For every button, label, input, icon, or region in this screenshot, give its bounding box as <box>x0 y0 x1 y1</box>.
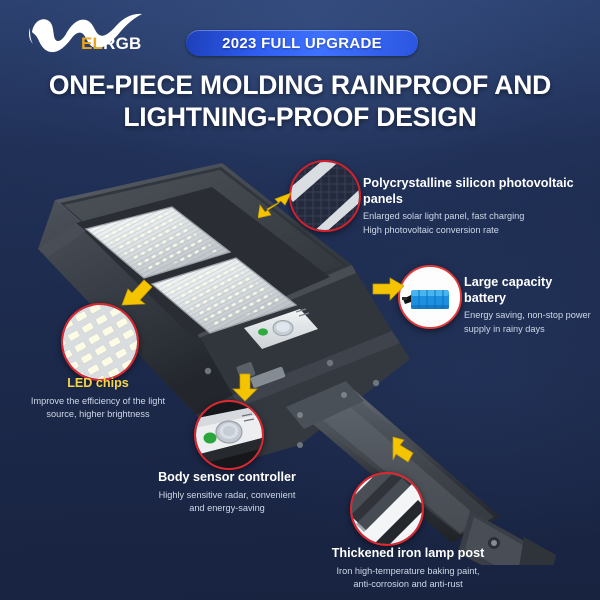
promo-banner: ELRGB 2023 FULL UPGRADE ONE-PIECE MOLDIN… <box>0 0 600 600</box>
arrow-lamp-post-icon <box>385 436 419 466</box>
upgrade-badge-label: 2023 FULL UPGRADE <box>222 35 382 52</box>
battery-pack-icon <box>400 267 460 327</box>
arrow-sensor-icon <box>228 372 262 402</box>
callout-sub1-sensor: Highly sensitive radar, convenient <box>132 489 322 502</box>
callout-sub2-solar-panel: High photovoltaic conversion rate <box>363 224 595 237</box>
logo-text-rgb: RGB <box>103 34 141 53</box>
callout-sub1-lamp-post: Iron high-temperature baking paint, <box>297 565 519 578</box>
callout-solar-panel: Polycrystalline silicon photovoltaic pan… <box>363 176 595 237</box>
callout-title-solar-panel: Polycrystalline silicon photovoltaic pan… <box>363 176 595 207</box>
callout-title-battery: Large capacity battery <box>464 275 596 306</box>
page-title: ONE-PIECE MOLDING RAINPROOF AND LIGHTNIN… <box>0 70 600 134</box>
led-chip-array-icon <box>63 305 137 379</box>
upgrade-badge: 2023 FULL UPGRADE <box>186 30 418 56</box>
iron-pole-closeup-icon <box>352 474 422 544</box>
detail-circle-sensor <box>194 400 264 470</box>
headline-line-1: ONE-PIECE MOLDING RAINPROOF AND <box>0 70 600 102</box>
headline-line-2: LIGHTNING-PROOF DESIGN <box>0 102 600 134</box>
logo-text-el: EL <box>81 34 103 53</box>
callout-sub1-led-chips: Improve the efficiency of the light <box>8 395 188 408</box>
callout-title-sensor: Body sensor controller <box>132 470 322 486</box>
callout-sub2-lamp-post: anti-corrosion and anti-rust <box>297 578 519 591</box>
pir-sensor-module-icon <box>196 402 262 468</box>
callout-sub2-battery: supply in rainy days <box>464 323 596 336</box>
callout-lamp-post: Thickened iron lamp post Iron high-tempe… <box>297 546 519 591</box>
callout-battery: Large capacity battery Energy saving, no… <box>464 275 596 336</box>
detail-circle-led-chips <box>61 303 139 381</box>
detail-circle-solar-panel <box>289 160 361 232</box>
arrow-led-chips-icon <box>120 278 154 308</box>
callout-title-led-chips: LED chips <box>8 376 188 392</box>
arrow-solar-panel-icon <box>258 190 292 220</box>
callout-sub1-solar-panel: Enlarged solar light panel, fast chargin… <box>363 210 595 223</box>
arrow-battery-icon <box>371 274 405 304</box>
brand-logo: ELRGB <box>24 8 164 58</box>
callout-title-lamp-post: Thickened iron lamp post <box>297 546 519 562</box>
callout-sub2-led-chips: source, higher brightness <box>8 408 188 421</box>
callout-sub1-battery: Energy saving, non-stop power <box>464 309 596 322</box>
callout-led-chips: LED chips Improve the efficiency of the … <box>8 376 188 421</box>
callout-sub2-sensor: and energy-saving <box>132 502 322 515</box>
logo-wordmark: ELRGB <box>81 35 142 52</box>
callout-sensor: Body sensor controller Highly sensitive … <box>132 470 322 515</box>
detail-circle-battery <box>398 265 462 329</box>
solar-panel-closeup-icon <box>291 162 359 230</box>
detail-circle-lamp-post <box>350 472 424 546</box>
